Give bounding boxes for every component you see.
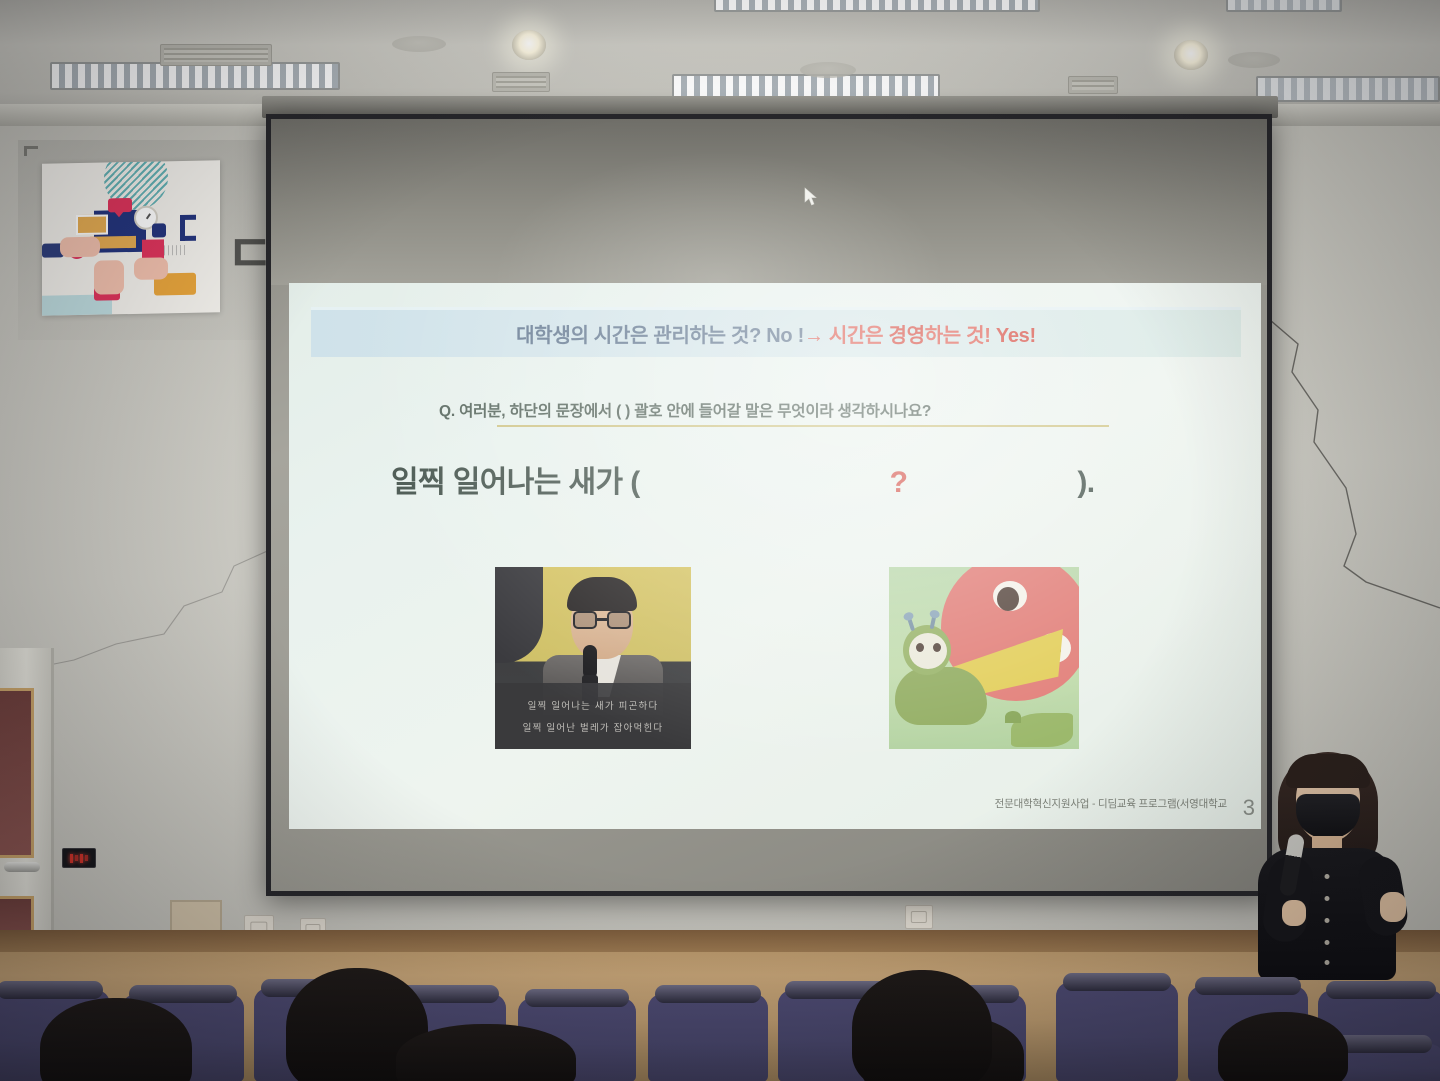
presenter-right-hand <box>1380 892 1406 922</box>
slide-question-underline <box>497 425 1109 427</box>
side-door[interactable] <box>0 648 54 948</box>
slide-title-part5: Yes! <box>996 325 1036 347</box>
wall-crack <box>1270 320 1440 620</box>
microphone-icon <box>583 645 597 679</box>
glasses-icon <box>573 611 631 629</box>
banner-hand <box>134 257 168 280</box>
slide-title-part3: 경영 <box>889 325 925 347</box>
banner-document-icon <box>76 214 108 235</box>
slide-light-sheen <box>289 283 1261 829</box>
banner-user-badge-icon <box>152 223 166 237</box>
ceiling-vent <box>160 44 272 66</box>
auditorium-seat <box>648 994 768 1081</box>
slide-title: 대학생의 시간은 관리하는 것? No !→ 시간은 경영하는 것! Yes! <box>516 319 1036 348</box>
projection-screen: 대학생의 시간은 관리하는 것? No !→ 시간은 경영하는 것! Yes! … <box>266 114 1272 896</box>
presenter-left-hand <box>1282 900 1306 926</box>
banner-letter: ㄷ <box>226 212 272 287</box>
banner-hand <box>94 260 124 295</box>
ceiling-light-panel <box>1226 0 1342 12</box>
screenshot-root: ㄷ 대학생의 시간은 관리하는 것? No !→ 시간은 경영하는 것! Yes… <box>0 0 1440 1081</box>
photo-hair <box>567 577 637 611</box>
ceiling-light-panel <box>50 62 340 90</box>
man-with-glasses-photo: 일찍 일어나는 새가 피곤하다 일찍 일어난 벌레가 잡아먹힌다 <box>495 567 691 749</box>
door-panel-upper <box>0 688 34 858</box>
presenter <box>1244 752 1412 980</box>
banner-hand <box>60 237 100 258</box>
slide-title-bar: 대학생의 시간은 관리하는 것? No !→ 시간은 경영하는 것! Yes! <box>311 307 1241 357</box>
slide-question: Q. 여러분, 하단의 문장에서 ( ) 괄호 안에 들어갈 말은 무엇이라 생… <box>439 399 1129 421</box>
led-segment <box>75 855 78 861</box>
ceiling-spotlight <box>512 30 546 60</box>
leaf-sprout-icon <box>1005 711 1021 723</box>
caterpillar-eye <box>933 643 941 652</box>
audience-head <box>1218 1012 1348 1081</box>
bird-pupil <box>997 587 1019 611</box>
audience-head <box>852 970 992 1081</box>
slide-title-part2: 시간은 <box>824 325 889 347</box>
presenter-hair-front <box>1286 754 1370 788</box>
ceiling-speaker <box>800 62 856 78</box>
door-handle[interactable] <box>4 862 40 872</box>
presentation-slide: 대학생의 시간은 관리하는 것? No !→ 시간은 경영하는 것! Yes! … <box>289 283 1261 829</box>
banner-chat-bubble-icon <box>108 198 132 212</box>
stage-edge-rail <box>0 930 1440 952</box>
auditorium-seat <box>1056 982 1178 1081</box>
slide-main-sentence: 일찍 일어나는 새가 (?). <box>391 457 1211 501</box>
wall-banner <box>42 160 220 315</box>
slide-footer: 전문대학혁신지원사업 - 디딤교육 프로그램(서영대학교 <box>995 796 1227 811</box>
ceiling-vent <box>1068 76 1118 94</box>
ceiling-speaker <box>1228 52 1280 68</box>
photo-caption-line2: 일찍 일어난 벌레가 잡아먹힌다 <box>523 720 664 734</box>
photo-backdrop <box>495 567 543 663</box>
led-segment <box>80 854 83 863</box>
ceiling-spotlight <box>1174 40 1208 70</box>
caterpillar-eye <box>916 643 924 652</box>
slide-title-arrow: → <box>804 325 824 347</box>
ceiling-speaker <box>392 36 446 52</box>
wall-outlet[interactable] <box>905 905 933 929</box>
led-segment <box>85 855 88 861</box>
ceiling-light-panel <box>714 0 1040 12</box>
caterpillar-antenna <box>907 617 915 632</box>
caterpillar-face <box>909 633 947 669</box>
wall-crack <box>44 548 274 668</box>
ceiling-light-panel <box>1256 76 1440 102</box>
audience-seating <box>0 972 1440 1081</box>
ceiling-vent <box>492 72 550 92</box>
audience-head <box>396 1024 576 1081</box>
banner-wave-decor <box>164 245 186 255</box>
photo-caption-line1: 일찍 일어나는 새가 피곤하다 <box>528 698 659 712</box>
slide-title-part1: 대학생의 시간은 관리하는 것? No ! <box>516 325 804 347</box>
bird-and-caterpillar-illustration <box>889 567 1079 749</box>
sentence-blank-marker: ? <box>890 466 908 499</box>
access-control-panel[interactable] <box>62 848 96 868</box>
banner-bracket-icon <box>180 215 196 241</box>
sentence-after: ). <box>1077 466 1094 499</box>
sentence-before: 일찍 일어나는 새가 ( <box>391 466 640 499</box>
screen-blank-area <box>271 119 1267 285</box>
photo-caption: 일찍 일어나는 새가 피곤하다 일찍 일어난 벌레가 잡아먹힌다 <box>495 683 691 749</box>
led-segment <box>70 854 73 863</box>
slide-title-part4: 하는 것! <box>925 325 996 347</box>
caterpillar-body <box>895 667 987 725</box>
